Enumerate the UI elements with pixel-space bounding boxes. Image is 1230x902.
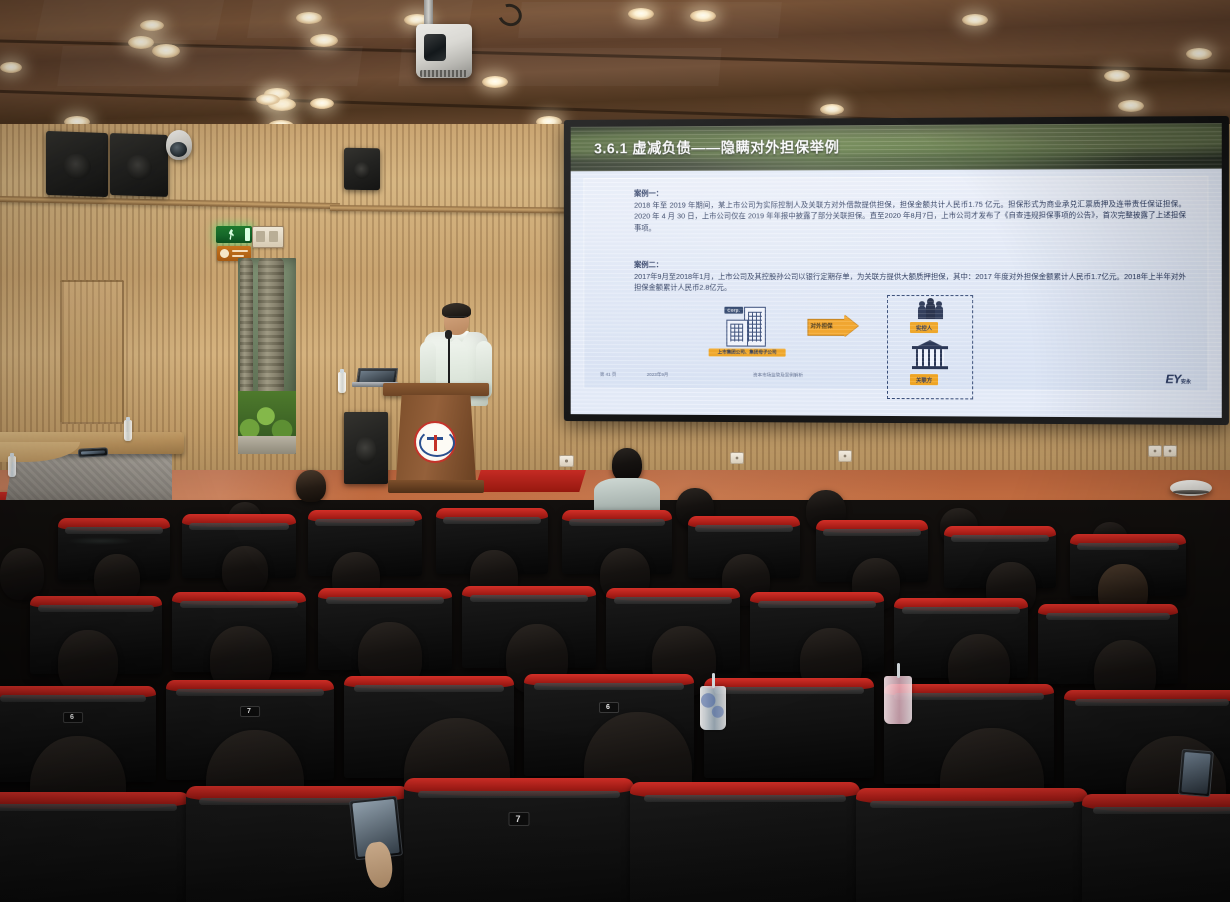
ceiling (0, 0, 1230, 132)
ceiling-downlight (820, 104, 844, 115)
open-doorway (238, 258, 296, 454)
case1-label: 案例一： (634, 188, 663, 199)
water-bottle[interactable] (338, 372, 346, 393)
ceiling-downlight (1118, 100, 1144, 112)
auditorium-seat[interactable] (0, 792, 190, 902)
lectern (388, 383, 484, 501)
seat-number: 6 (63, 712, 83, 723)
ey-logo-text: EY (1166, 372, 1181, 386)
lecture-hall-photo: 3.6.1 虚减负债——隐瞒对外担保举例 案例一： 2018 年至 2019 年… (0, 0, 1230, 902)
slide-body: 案例一： 2018 年至 2019 年期间，某上市公司为实际控制人及关联方对外借… (583, 176, 1208, 392)
auditorium-seat[interactable]: 7 (404, 778, 634, 902)
audience-head (222, 546, 268, 596)
desk-microphone-base (78, 447, 108, 458)
slide-title: 3.6.1 虚减负债——隐瞒对外担保举例 (594, 136, 839, 158)
audience-area: 6 7 6 (0, 500, 1230, 902)
wall-socket[interactable] (838, 450, 852, 462)
ceiling-downlight (482, 76, 508, 88)
projector-lens (424, 34, 446, 61)
exit-sign (216, 226, 252, 243)
wall-door-panel[interactable] (60, 280, 124, 424)
drink-cup[interactable] (700, 686, 726, 730)
case1-paragraph: 2018 年至 2019 年期间，某上市公司为实际控制人及关联方对外借款提供担保… (634, 198, 1186, 234)
auditorium-seat[interactable] (630, 782, 860, 902)
slide-date: 2023年9月 (647, 372, 669, 378)
audience-shoulders (594, 478, 660, 514)
straw-icon (897, 663, 900, 678)
ceiling-downlight (962, 14, 988, 26)
wall-socket[interactable] (559, 455, 574, 467)
wall-control-panel[interactable] (252, 226, 284, 248)
ceiling-downlight (256, 94, 280, 105)
audience-phone[interactable] (1178, 749, 1214, 798)
audience-head (296, 470, 326, 502)
audience-head (612, 448, 642, 482)
projector-vent (420, 70, 468, 77)
wall-speaker (344, 148, 380, 191)
arrow-label: 对外担保 (810, 322, 832, 330)
wall-speaker (110, 133, 168, 197)
source-label-chip: 上市集团公司、集团母子公司 (709, 348, 786, 356)
ceiling-downlight (1186, 48, 1212, 60)
ey-logo: EY安永 (1166, 372, 1192, 386)
outdoor-pavement (238, 436, 296, 454)
slide-surface: 3.6.1 虚减负债——隐瞒对外担保举例 案例一： 2018 年至 2019 年… (571, 123, 1222, 418)
water-bottle[interactable] (8, 456, 16, 477)
wall-speaker (46, 131, 108, 197)
wall-socket[interactable] (730, 452, 744, 464)
microphone-stand (448, 336, 450, 384)
guarantee-diagram: Corp. 上市集团公司、集团母子公司 对外担保 (583, 303, 1208, 405)
ceiling-downlight (296, 12, 322, 24)
exit-door-icon (245, 228, 250, 241)
drink-cup[interactable] (884, 676, 912, 724)
seat-number: 7 (508, 812, 529, 826)
lectern-top (383, 383, 489, 396)
listed-company-icon: Corp. (718, 307, 777, 347)
ey-logo-sub: 安永 (1181, 379, 1191, 385)
slide-page-number: 第 41 页 (600, 372, 616, 378)
floor-speaker (344, 412, 388, 484)
presenter-glasses-icon (446, 316, 467, 323)
ceiling-downlight (690, 10, 716, 22)
ceiling-downlight (128, 36, 154, 49)
straw-icon (712, 673, 715, 688)
seat-number: 6 (599, 702, 619, 713)
dome-camera-icon (166, 130, 192, 160)
arrow-head-icon (844, 315, 858, 337)
auditorium-seat[interactable] (856, 788, 1088, 902)
lectern-base (388, 480, 484, 493)
running-man-icon (228, 229, 235, 240)
wall-socket[interactable] (1163, 445, 1177, 457)
microphone-icon (445, 330, 452, 339)
auditorium-seat[interactable] (1082, 794, 1230, 902)
slide-footer: 第 41 页 2023年9月 资本市场监管及案例解析 EY安永 (596, 365, 1195, 388)
corp-tag: Corp. (724, 307, 743, 314)
case2-paragraph: 2017年9月至2018年1月，上市公司及其控股孙公司以银行定期存单，为关联方提… (634, 271, 1186, 294)
red-carpet (474, 470, 586, 492)
guarantee-arrow: 对外担保 (807, 315, 859, 338)
ceiling-downlight (140, 20, 164, 31)
wall-socket[interactable] (1148, 445, 1162, 457)
case2-label: 案例二： (634, 259, 663, 270)
school-crest-emblem (414, 421, 456, 463)
audience-head (0, 548, 44, 600)
robot-vacuum[interactable] (1170, 480, 1212, 496)
ceiling-downlight (628, 8, 654, 20)
ceiling-downlight (152, 44, 180, 58)
ceiling-downlight (0, 62, 22, 73)
warning-icon (220, 249, 229, 258)
auditorium-seat[interactable] (704, 678, 874, 778)
ceiling-downlight (1104, 70, 1130, 82)
presentation-screen[interactable]: 3.6.1 虚减负债——隐瞒对外担保举例 案例一： 2018 年至 2019 年… (564, 116, 1229, 425)
seat-number: 7 (240, 706, 260, 717)
ceiling-downlight (310, 34, 338, 47)
slide-footer-note: 资本市场监管及案例解析 (753, 372, 803, 378)
controller-label-chip: 实控人 (910, 322, 938, 333)
controller-people-icon (916, 301, 944, 319)
water-bottle[interactable] (124, 420, 132, 441)
ceiling-downlight (310, 98, 334, 109)
